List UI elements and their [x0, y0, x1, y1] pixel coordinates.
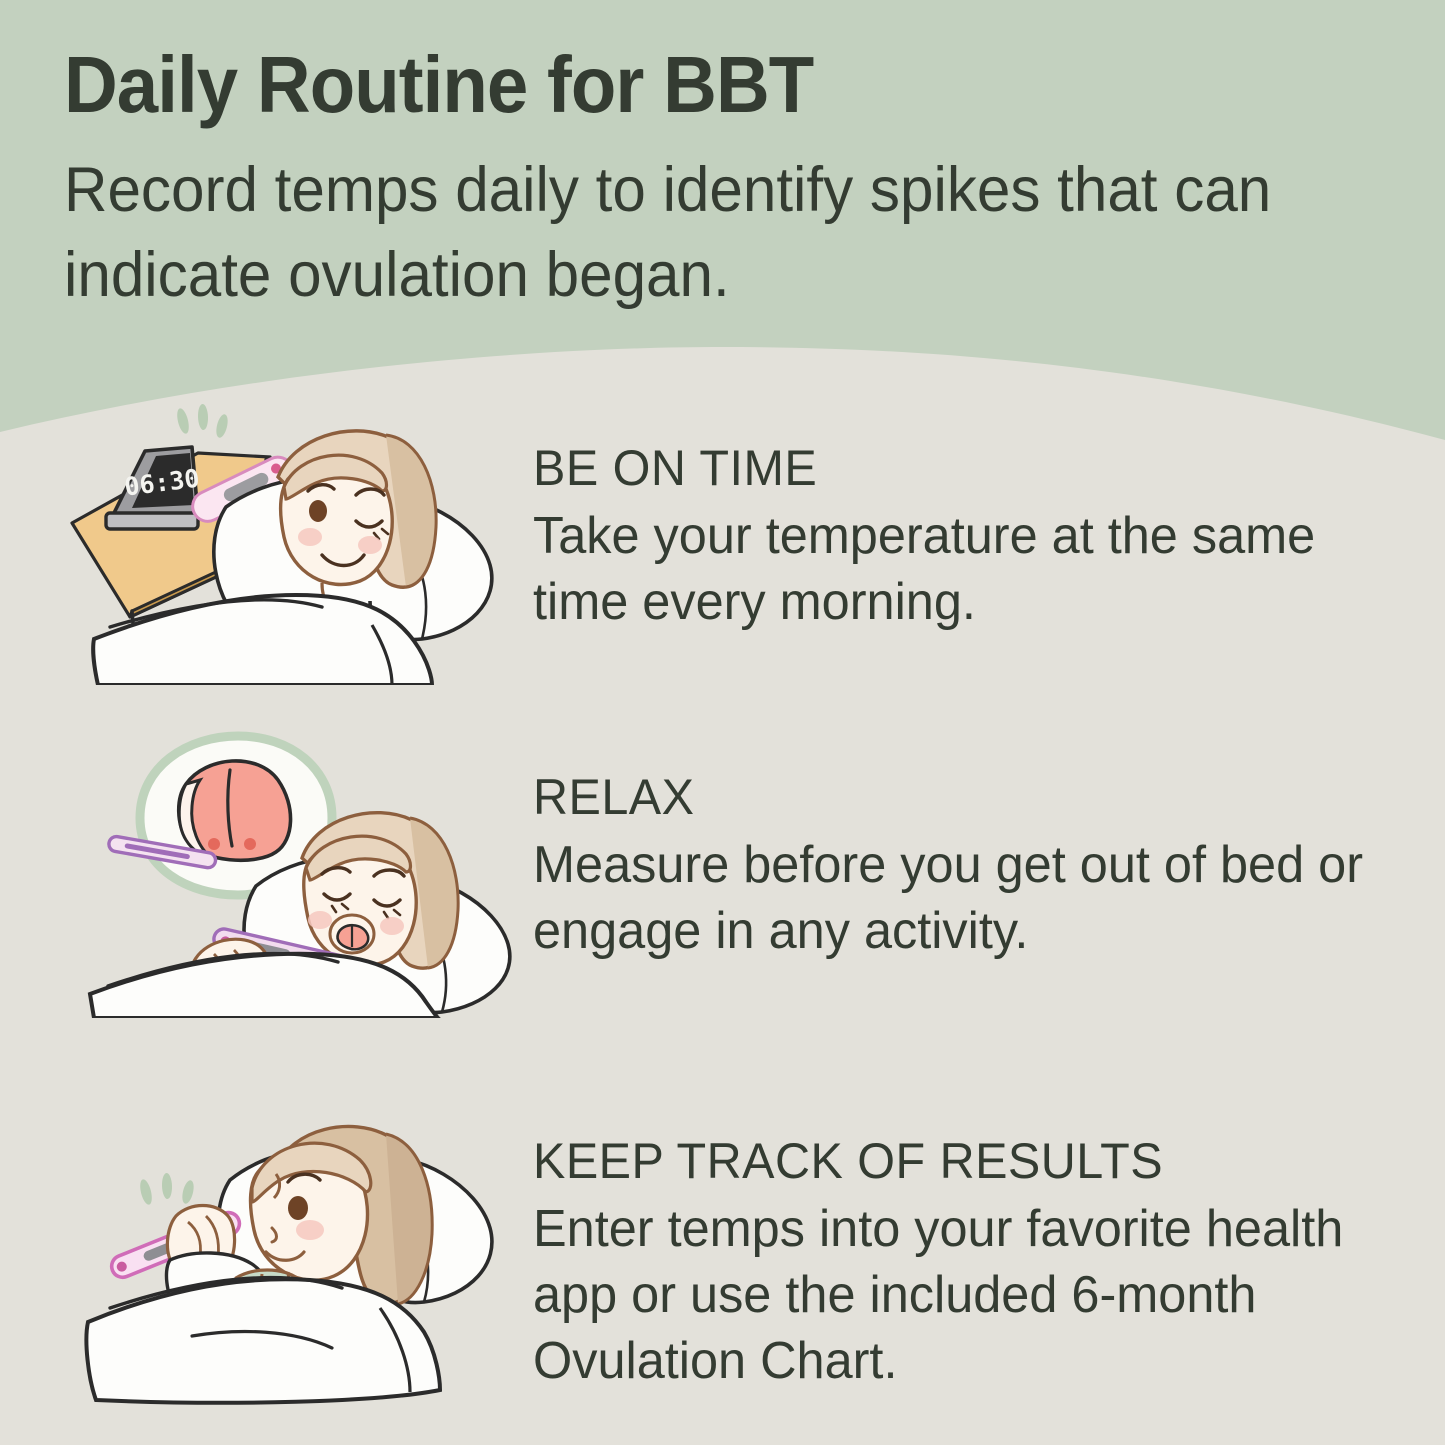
step-row-2: RELAX Measure before you get out of bed … — [0, 728, 1445, 1028]
header-band: Daily Routine for BBT Record temps daily… — [0, 0, 1445, 460]
step-kicker-1: BE ON TIME — [533, 439, 1367, 497]
step-text-2: RELAX Measure before you get out of bed … — [533, 768, 1393, 964]
step-row-3: KEEP TRACK OF RESULTS Enter temps into y… — [0, 1110, 1445, 1420]
page-title: Daily Routine for BBT — [64, 42, 813, 128]
page-subtitle: Record temps daily to identify spikes th… — [64, 148, 1344, 318]
header-text-block: Daily Routine for BBT Record temps daily… — [0, 0, 1445, 360]
motion-dashes-icon — [175, 404, 230, 439]
woman-holding-thermometer-icon — [80, 1110, 510, 1410]
step-body-1: Take your temperature at the same time e… — [533, 503, 1367, 635]
woman-thermometer-closeup-bubble-icon — [80, 728, 530, 1018]
step-body-2: Measure before you get out of bed or eng… — [533, 832, 1367, 964]
step-body-3: Enter temps into your favorite health ap… — [533, 1196, 1367, 1394]
illustration-be-on-time: 06:30 — [70, 395, 520, 685]
step-kicker-2: RELAX — [533, 768, 1367, 826]
step-text-3: KEEP TRACK OF RESULTS Enter temps into y… — [533, 1132, 1393, 1394]
illustration-relax — [80, 728, 530, 1018]
step-text-1: BE ON TIME Take your temperature at the … — [533, 439, 1393, 635]
infographic-page: Daily Routine for BBT Record temps daily… — [0, 0, 1445, 1445]
step-kicker-3: KEEP TRACK OF RESULTS — [533, 1132, 1367, 1190]
woman-in-bed-with-alarm-clock-icon: 06:30 — [70, 395, 520, 685]
motion-dashes-icon — [138, 1173, 196, 1206]
step-row-1: 06:30 — [0, 395, 1445, 695]
illustration-keep-track — [80, 1110, 510, 1410]
